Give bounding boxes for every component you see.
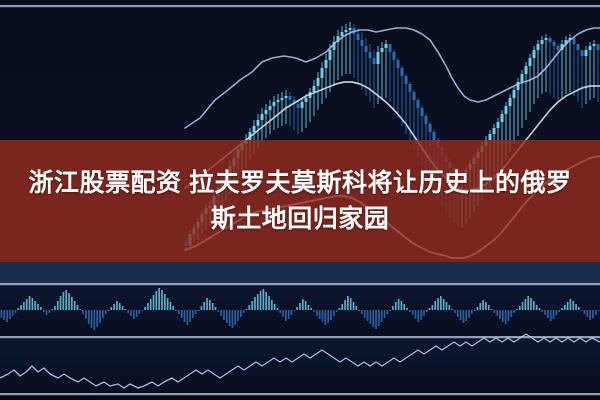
histogram-panel: [0, 283, 600, 337]
headline-banner: 浙江股票配资 拉夫罗夫莫斯科将让历史上的俄罗 斯土地回归家园: [0, 140, 600, 262]
line-panel: [0, 334, 600, 395]
headline-line-1: 浙江股票配资 拉夫罗夫莫斯科将让历史上的俄罗: [29, 165, 572, 201]
stock-chart-banner-image: 浙江股票配资 拉夫罗夫莫斯科将让历史上的俄罗 斯土地回归家园: [0, 0, 600, 400]
headline-line-2: 斯土地回归家园: [211, 201, 390, 237]
